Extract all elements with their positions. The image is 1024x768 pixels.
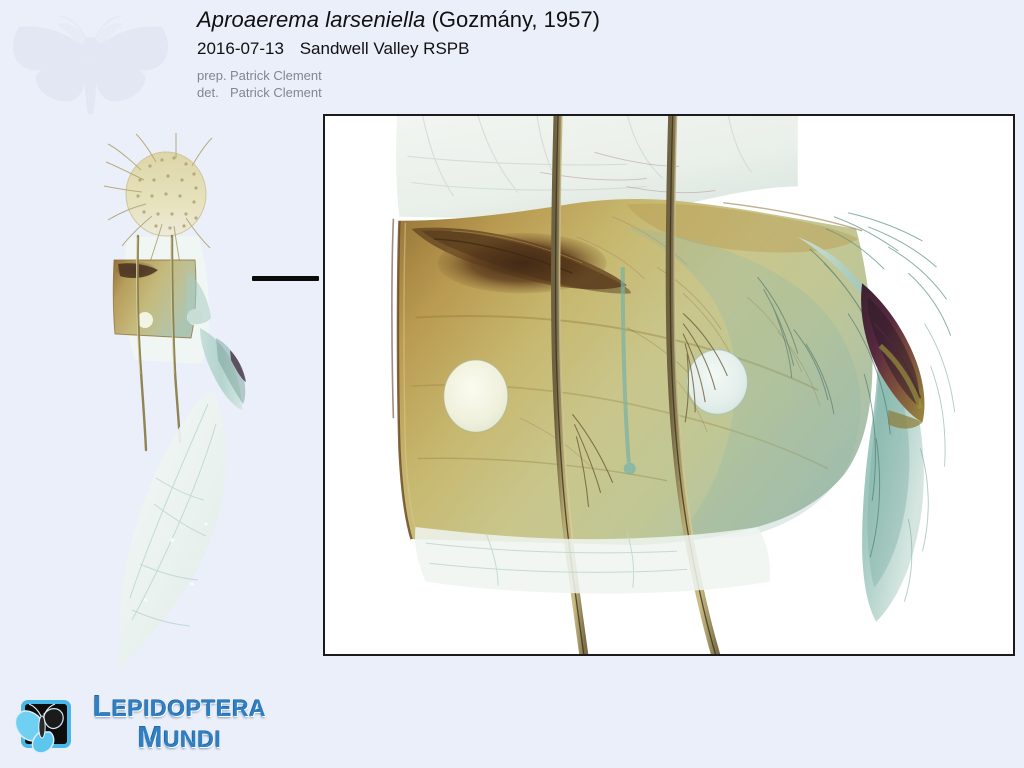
page-title: Aproaerema larseniella (Gozmány, 1957) [197,6,897,33]
moth-silhouette-icon [8,8,173,123]
scale-bar [252,276,319,281]
collection-date: 2016-07-13 [197,39,284,58]
logo-line-1: LEPIDOPTERA [82,692,277,722]
det-label: det. [197,84,230,101]
det-row: det.Patrick Clement [197,84,897,101]
collection-site: Sandwell Valley RSPB [300,39,470,58]
header: Aproaerema larseniella (Gozmány, 1957) 2… [197,6,897,101]
specimen-plate: Aproaerema larseniella (Gozmány, 1957) 2… [0,0,1024,768]
lepidoptera-mundi-logo[interactable]: LEPIDOPTERA MUNDI [14,694,274,762]
prep-value: Patrick Clement [230,68,322,83]
logo-line-2-rest: UNDI [163,726,221,752]
collection-line: 2016-07-13 Sandwell Valley RSPB [197,37,897,60]
preparation-meta: prep.Patrick Clement det.Patrick Clement [197,67,897,101]
genitalia-slide-detail[interactable] [323,114,1015,656]
species-name: Aproaerema larseniella [197,7,425,32]
logo-line-1-rest: EPIDOPTERA [112,695,267,721]
prep-label: prep. [197,67,230,84]
prep-row: prep.Patrick Clement [197,67,897,84]
species-authority: (Gozmány, 1957) [432,7,600,32]
genitalia-slide-overview [96,132,281,697]
logo-wordmark: LEPIDOPTERA MUNDI [82,692,277,753]
butterfly-logo-icon [14,696,76,756]
logo-line-2: MUNDI [82,723,277,753]
det-value: Patrick Clement [230,85,322,100]
